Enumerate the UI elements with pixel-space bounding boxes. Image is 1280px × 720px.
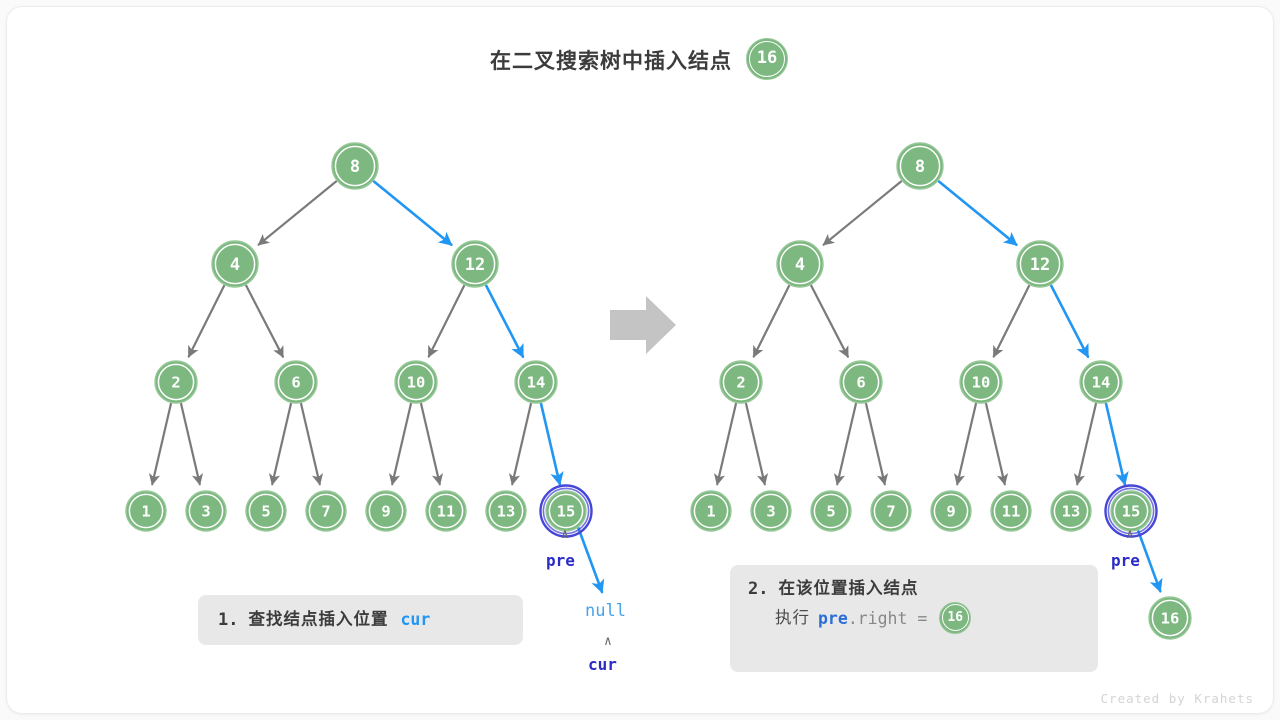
- diagram-canvas: 8412261014135791113158412261014135791113…: [0, 0, 1280, 720]
- caret-cur: ∧: [604, 634, 612, 649]
- caption-node-16: 16: [939, 602, 973, 636]
- caption-step-1: 1.查找结点插入位置cur: [198, 595, 523, 645]
- caption-segment: 执行: [775, 609, 810, 627]
- node-value: 16: [942, 604, 969, 631]
- caption-step-2: 2.在该位置插入结点执行pre.right = 16: [730, 565, 1098, 672]
- caption-segment: 查找结点插入位置: [248, 610, 388, 628]
- pointer-label-cur: cur: [588, 655, 617, 674]
- footer-credit: Created by Krahets: [1101, 691, 1254, 706]
- caret-pre: ∧: [1126, 527, 1134, 542]
- caption-segment: 2.: [748, 579, 768, 599]
- null-value: null: [585, 601, 626, 621]
- caption-line: 1.查找结点插入位置cur: [218, 608, 523, 633]
- pointer-label-pre: pre: [1111, 551, 1140, 570]
- caption-line: 2.在该位置插入结点: [748, 577, 1098, 602]
- pointer-label-pre: pre: [546, 551, 575, 570]
- annotation-layer: ∧prenull∧cur∧pre1.查找结点插入位置cur2.在该位置插入结点执…: [0, 0, 1280, 720]
- caption-segment: cur: [400, 610, 430, 629]
- caption-segment: .right =: [848, 609, 937, 628]
- caption-segment: 在该位置插入结点: [778, 579, 918, 597]
- caption-segment: 1.: [218, 610, 238, 630]
- caret-pre: ∧: [561, 527, 569, 542]
- caption-line: 执行pre.right = 16: [748, 602, 1098, 636]
- caption-segment: pre: [818, 609, 848, 628]
